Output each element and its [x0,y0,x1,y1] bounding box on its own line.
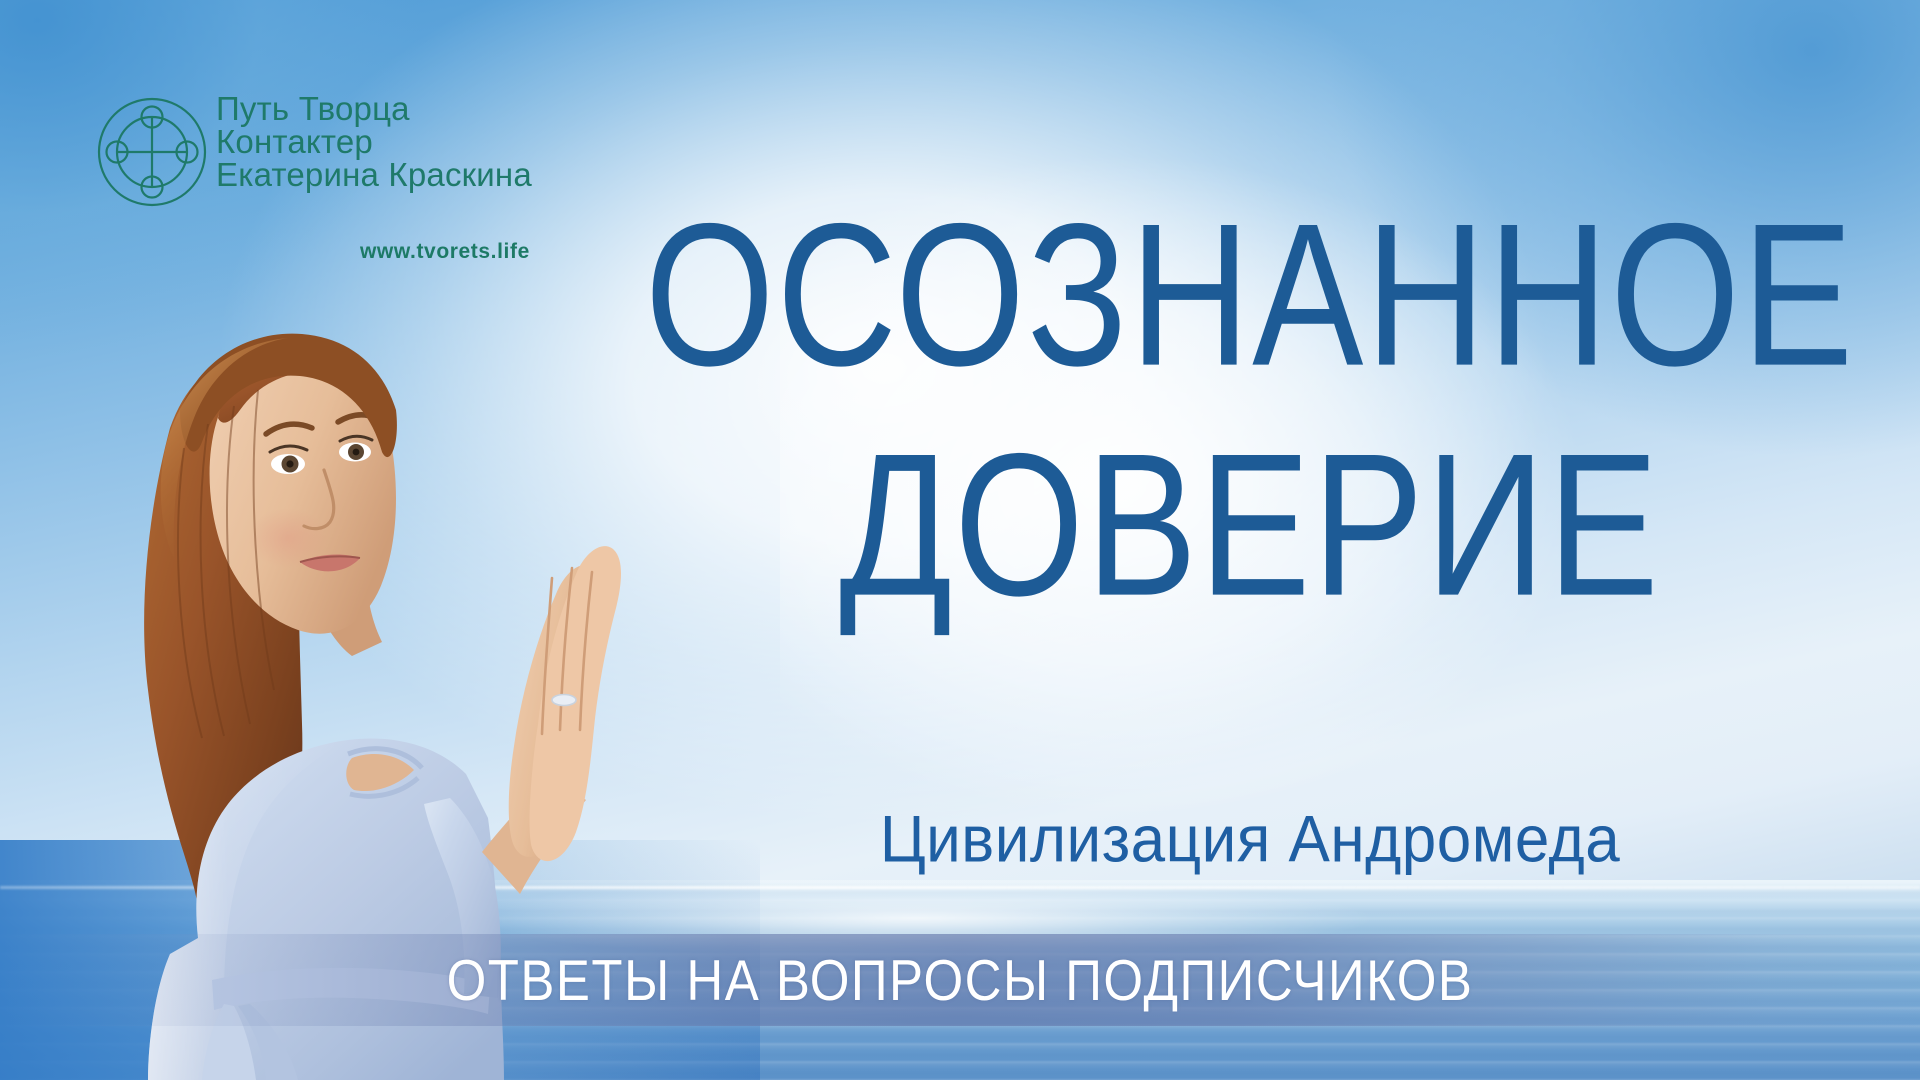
brand-line-2: Контактер [216,125,546,158]
slide-canvas: Путь Творца Контактер Екатерина Краскина… [0,0,1920,1080]
brand-website-url[interactable]: www.tvorets.life [360,240,530,264]
page-title: ОСОЗНАННОЕ ДОВЕРИЕ [580,190,1920,598]
brand-logo[interactable]: Путь Творца Контактер Екатерина Краскина [96,92,516,252]
eye-right-pupil [353,449,360,456]
title-line-2: ДОВЕРИЕ [600,420,1900,630]
eye-left-pupil [286,460,293,467]
ring [552,695,576,706]
bottom-banner-text: ОТВЕТЫ НА ВОПРОСЫ ПОДПИСЧИКОВ [0,928,1920,1031]
brand-text-block: Путь Творца Контактер Екатерина Краскина [216,92,546,191]
brand-line-1: Путь Творца [216,92,546,125]
title-line-1: ОСОЗНАННОЕ [600,190,1900,400]
mandala-circle-cross-icon [96,96,208,208]
subtitle: Цивилизация Андромеда [580,802,1920,878]
brand-line-3: Екатерина Краскина [216,158,546,191]
